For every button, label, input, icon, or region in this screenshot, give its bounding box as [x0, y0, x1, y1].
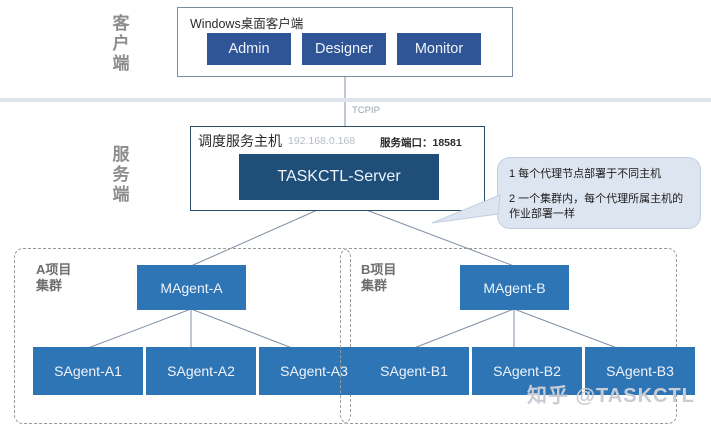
protocol-label-tcpip: TCPIP: [352, 105, 380, 116]
server-port-label: 服务端口：18581: [380, 135, 462, 150]
watermark: 知乎 @TASKCTL: [527, 379, 695, 408]
sagent-a2[interactable]: SAgent-A2: [146, 347, 256, 395]
callout-note-line-2: 2 一个集群内，每个代理所属主机的作业部署一样: [509, 192, 690, 223]
callout-tail-icon: [430, 190, 510, 235]
server-core-taskctl[interactable]: TASKCTL-Server: [239, 154, 439, 200]
tier-divider: [0, 98, 711, 102]
cluster-b-label: B项目 集群: [361, 262, 396, 295]
magent-b[interactable]: MAgent-B: [460, 265, 569, 310]
tier-label-client-char-1: 客: [104, 14, 138, 34]
tier-label-server-char-1: 服: [104, 145, 138, 165]
magent-a[interactable]: MAgent-A: [137, 265, 246, 310]
cluster-a-label: A项目 集群: [36, 262, 71, 295]
cluster-b-label-line-2: 集群: [361, 278, 396, 294]
callout-note-line-1: 1 每个代理节点部署于不同主机: [509, 167, 690, 183]
tier-label-server-char-3: 端: [104, 185, 138, 205]
tier-label-client: 客 户 端: [104, 14, 138, 74]
tier-label-server-char-2: 务: [104, 165, 138, 185]
client-app-monitor[interactable]: Monitor: [397, 33, 481, 65]
cluster-b-label-line-1: B项目: [361, 262, 396, 278]
tier-label-client-char-2: 户: [104, 34, 138, 54]
client-app-admin[interactable]: Admin: [207, 33, 291, 65]
server-group-title: 调度服务主机: [198, 131, 282, 151]
cluster-a-label-line-2: 集群: [36, 278, 71, 294]
tier-label-server: 服 务 端: [104, 145, 138, 205]
callout-note: 1 每个代理节点部署于不同主机 2 一个集群内，每个代理所属主机的作业部署一样: [497, 157, 701, 229]
tier-label-client-char-3: 端: [104, 54, 138, 74]
cluster-a-label-line-1: A项目: [36, 262, 71, 278]
client-app-designer[interactable]: Designer: [302, 33, 386, 65]
server-ip-address: 192.168.0.168: [288, 135, 355, 147]
client-group-title: Windows桌面客户端: [190, 13, 303, 32]
sagent-b1[interactable]: SAgent-B1: [359, 347, 469, 395]
sagent-a1[interactable]: SAgent-A1: [33, 347, 143, 395]
architecture-diagram: 客 户 端 Windows桌面客户端 Admin Designer Monito…: [0, 0, 711, 424]
